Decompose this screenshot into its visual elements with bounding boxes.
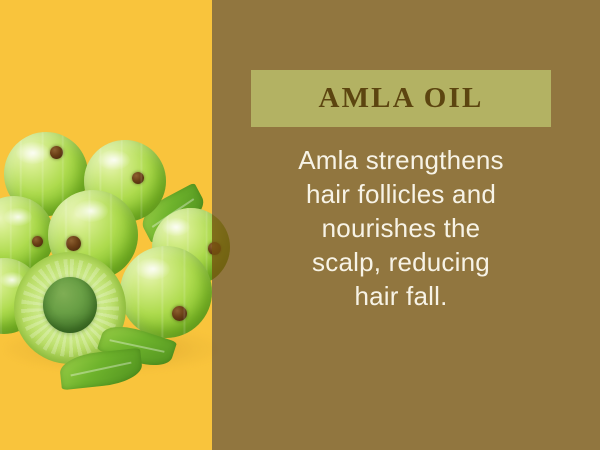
fruit-right-lower <box>120 246 212 338</box>
body-line-1: Amla strengthens <box>245 143 557 177</box>
stem-spot-icon <box>172 306 187 321</box>
fruit-highlight <box>162 218 190 236</box>
fruit-highlight <box>74 200 108 222</box>
body-line-3: nourishes the <box>245 211 557 245</box>
body-line-2: hair follicles and <box>245 177 557 211</box>
title-banner: AMLA OIL <box>251 70 551 127</box>
fruit-highlight <box>4 208 32 226</box>
body-line-4: scalp, reducing <box>245 245 557 279</box>
stem-spot-icon <box>132 172 144 184</box>
fruit-highlight <box>136 258 170 280</box>
stem-spot-icon <box>50 146 63 159</box>
benefit-description: Amla strengthens hair follicles and nour… <box>245 143 557 313</box>
page-title: AMLA OIL <box>318 82 483 115</box>
stem-spot-icon <box>32 236 43 247</box>
amla-seed-core <box>43 277 97 333</box>
fruit-highlight <box>98 150 130 170</box>
stem-spot-icon <box>66 236 81 251</box>
fruit-highlight <box>16 142 50 164</box>
amla-oil-benefit-card: AMLA OIL Amla strengthens hair follicles… <box>0 0 600 450</box>
body-line-5: hair fall. <box>245 279 557 313</box>
